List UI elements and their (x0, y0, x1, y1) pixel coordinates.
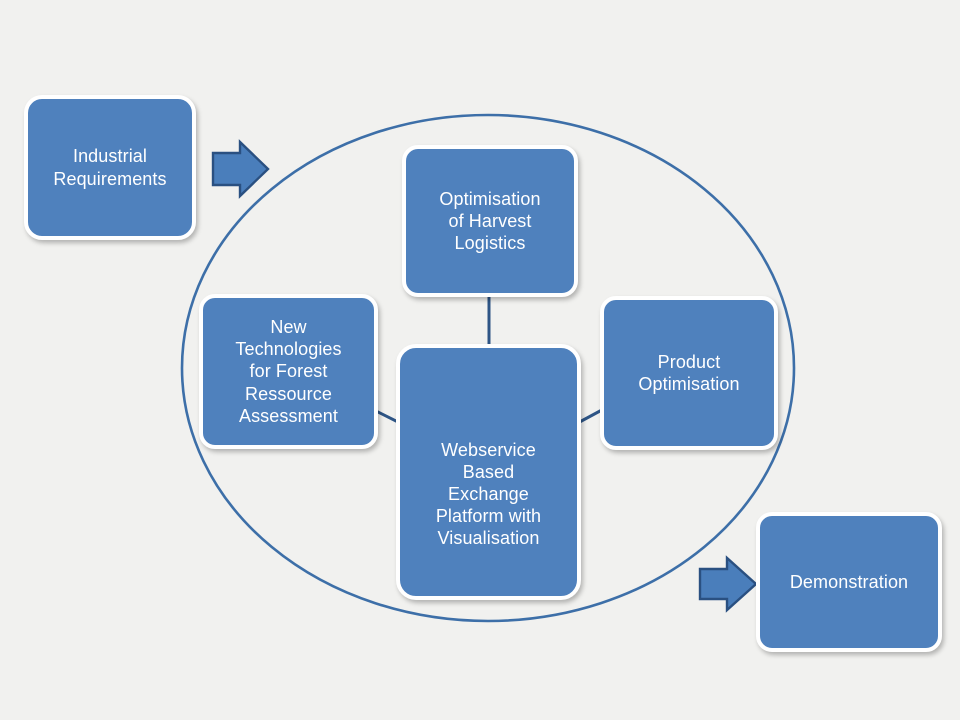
node-label-webservice-platform: Webservice Based Exchange Platform with … (432, 439, 545, 550)
arrow-scope-to-demonstration (700, 558, 756, 610)
node-industrial-requirements[interactable]: Industrial Requirements (24, 95, 196, 240)
node-product-optimisation[interactable]: Product Optimisation (600, 296, 778, 450)
node-label-new-technologies: New Technologies for Forest Ressource As… (231, 316, 345, 427)
node-demonstration[interactable]: Demonstration (756, 512, 942, 652)
node-webservice-platform[interactable]: Webservice Based Exchange Platform with … (396, 344, 581, 600)
diagram-canvas: Industrial Requirements Optimisation of … (0, 0, 960, 720)
node-label-optimisation-harvest-logistics: Optimisation of Harvest Logistics (435, 188, 544, 254)
node-label-industrial-requirements: Industrial Requirements (49, 145, 170, 189)
node-label-product-optimisation: Product Optimisation (634, 351, 743, 395)
node-label-demonstration: Demonstration (786, 571, 912, 593)
node-new-technologies[interactable]: New Technologies for Forest Ressource As… (199, 294, 378, 449)
arrow-requirements-to-scope (213, 142, 268, 196)
node-optimisation-harvest-logistics[interactable]: Optimisation of Harvest Logistics (402, 145, 578, 297)
